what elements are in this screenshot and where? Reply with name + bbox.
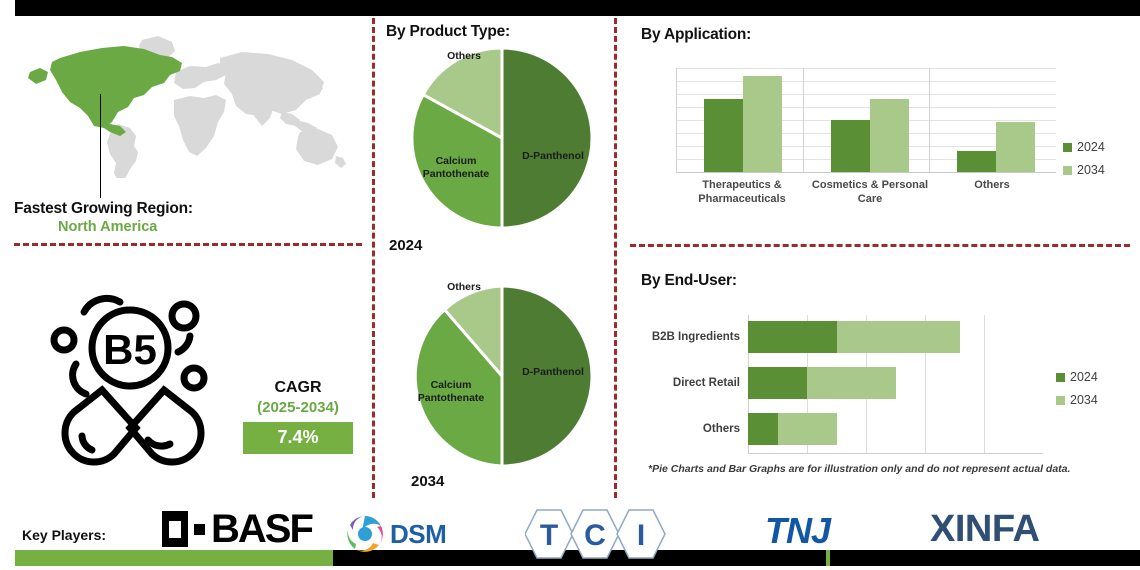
- application-title: By Application:: [641, 26, 751, 44]
- application-bar-chart: [676, 68, 1056, 172]
- end-user-category-label-1: Direct Retail: [625, 377, 740, 389]
- basf-wordmark: BASF: [211, 511, 312, 547]
- pie-chart-2024: [409, 45, 595, 231]
- end-user-bar-chart: [748, 315, 1043, 454]
- application-category-label-2: Others: [942, 178, 1042, 192]
- tci-letter-t: T: [540, 519, 558, 552]
- product-type-title: By Product Type:: [386, 23, 510, 41]
- bottom-green-bar: [15, 550, 333, 566]
- bottom-black-bar: [333, 550, 1140, 566]
- pie-2024-year: 2024: [389, 237, 422, 254]
- logo-tnj: TNJ: [765, 510, 830, 552]
- legend-label-2024: 2024: [1077, 140, 1105, 154]
- cagr-years: (2025-2034): [243, 398, 353, 418]
- top-black-bar: [15, 0, 1140, 16]
- infographic-page: Fastest Growing Region: North America B5…: [0, 0, 1140, 570]
- application-category-label-0: Therapeutics & Pharmaceuticals: [672, 178, 812, 206]
- key-players-label: Key Players:: [22, 527, 106, 543]
- cagr-value-badge: 7.4%: [243, 422, 353, 454]
- legend-swatch-2024-end-user: [1056, 373, 1065, 382]
- legend-label-2034: 2034: [1077, 163, 1105, 177]
- end-user-title: By End-User:: [641, 272, 737, 290]
- fastest-growing-region-value: North America: [58, 219, 157, 235]
- application-legend-item-2034: 2034: [1063, 163, 1105, 177]
- world-map: [14, 28, 359, 178]
- b5-icon-label: B5: [103, 326, 157, 373]
- tci-letter-i: I: [637, 519, 645, 552]
- pie-2034-label-calcium-pantothenate: Calcium Pantothenate: [401, 379, 501, 404]
- bar-therapeutics-2034: [743, 76, 782, 172]
- divider-right-horizontal: [630, 244, 1130, 247]
- logo-basf: BASF: [162, 511, 312, 547]
- legend-swatch-2034: [1063, 166, 1072, 175]
- end-user-legend-item-2034: 2034: [1056, 393, 1098, 407]
- hbar-direct-retail-2024: [748, 367, 807, 399]
- pie-2024-label-others: Others: [434, 50, 494, 63]
- end-user-legend-item-2024: 2024: [1056, 370, 1098, 384]
- pie-2034-label-d-panthenol: D-Panthenol: [508, 366, 598, 379]
- charts-footnote: *Pie Charts and Bar Graphs are for illus…: [648, 463, 1070, 475]
- vitamin-b5-icon: B5: [38, 290, 228, 470]
- logo-tci: T C I: [525, 505, 675, 568]
- legend-swatch-2024: [1063, 143, 1072, 152]
- application-legend-item-2024: 2024: [1063, 140, 1105, 154]
- basf-dot-mark: [194, 524, 205, 535]
- dsm-wordmark: DSM: [390, 519, 446, 550]
- legend-label-2034-end-user: 2034: [1070, 393, 1098, 407]
- hbar-direct-retail-2034: [807, 367, 896, 399]
- bar-cosmetics-2024: [831, 120, 870, 172]
- pie-2024-label-d-panthenol: D-Panthenol: [508, 150, 598, 163]
- logo-dsm: DSM: [344, 513, 446, 555]
- hbar-others-2024: [748, 413, 778, 445]
- pie-2024-label-calcium-pantothenate: Calcium Pantothenate: [406, 155, 506, 180]
- pie-2034-label-others: Others: [434, 281, 494, 294]
- hbar-others-2034: [778, 413, 837, 445]
- logo-xinfa: XINFA: [930, 508, 1039, 551]
- legend-swatch-2034-end-user: [1056, 396, 1065, 405]
- divider-middle-right: [614, 18, 617, 498]
- end-user-category-label-0: B2B Ingredients: [625, 331, 740, 343]
- cagr-block: CAGR (2025-2034) 7.4%: [243, 378, 353, 454]
- hbar-b2b-2024: [748, 321, 837, 353]
- application-legend: 2024 2034: [1063, 140, 1105, 186]
- tci-letter-c: C: [584, 519, 606, 552]
- map-pointer-line: [100, 94, 101, 198]
- legend-label-2024-end-user: 2024: [1070, 370, 1098, 384]
- end-user-category-label-2: Others: [625, 423, 740, 435]
- basf-square-mark: [162, 511, 188, 547]
- dsm-swirl-icon: [344, 513, 386, 555]
- bar-others-2034: [996, 122, 1035, 172]
- cagr-label: CAGR: [243, 378, 353, 398]
- pie-2034-year: 2034: [411, 473, 444, 490]
- bottom-bar-tick: [826, 550, 830, 566]
- divider-left-middle: [372, 18, 375, 498]
- bar-cosmetics-2034: [870, 99, 909, 172]
- bar-therapeutics-2024: [704, 99, 743, 172]
- end-user-legend: 2024 2034: [1056, 370, 1098, 416]
- hbar-b2b-2034: [837, 321, 961, 353]
- divider-left-horizontal: [14, 243, 362, 246]
- bar-others-2024: [957, 151, 996, 172]
- application-category-label-1: Cosmetics & Personal Care: [805, 178, 935, 206]
- fastest-growing-region-title: Fastest Growing Region:: [14, 200, 193, 218]
